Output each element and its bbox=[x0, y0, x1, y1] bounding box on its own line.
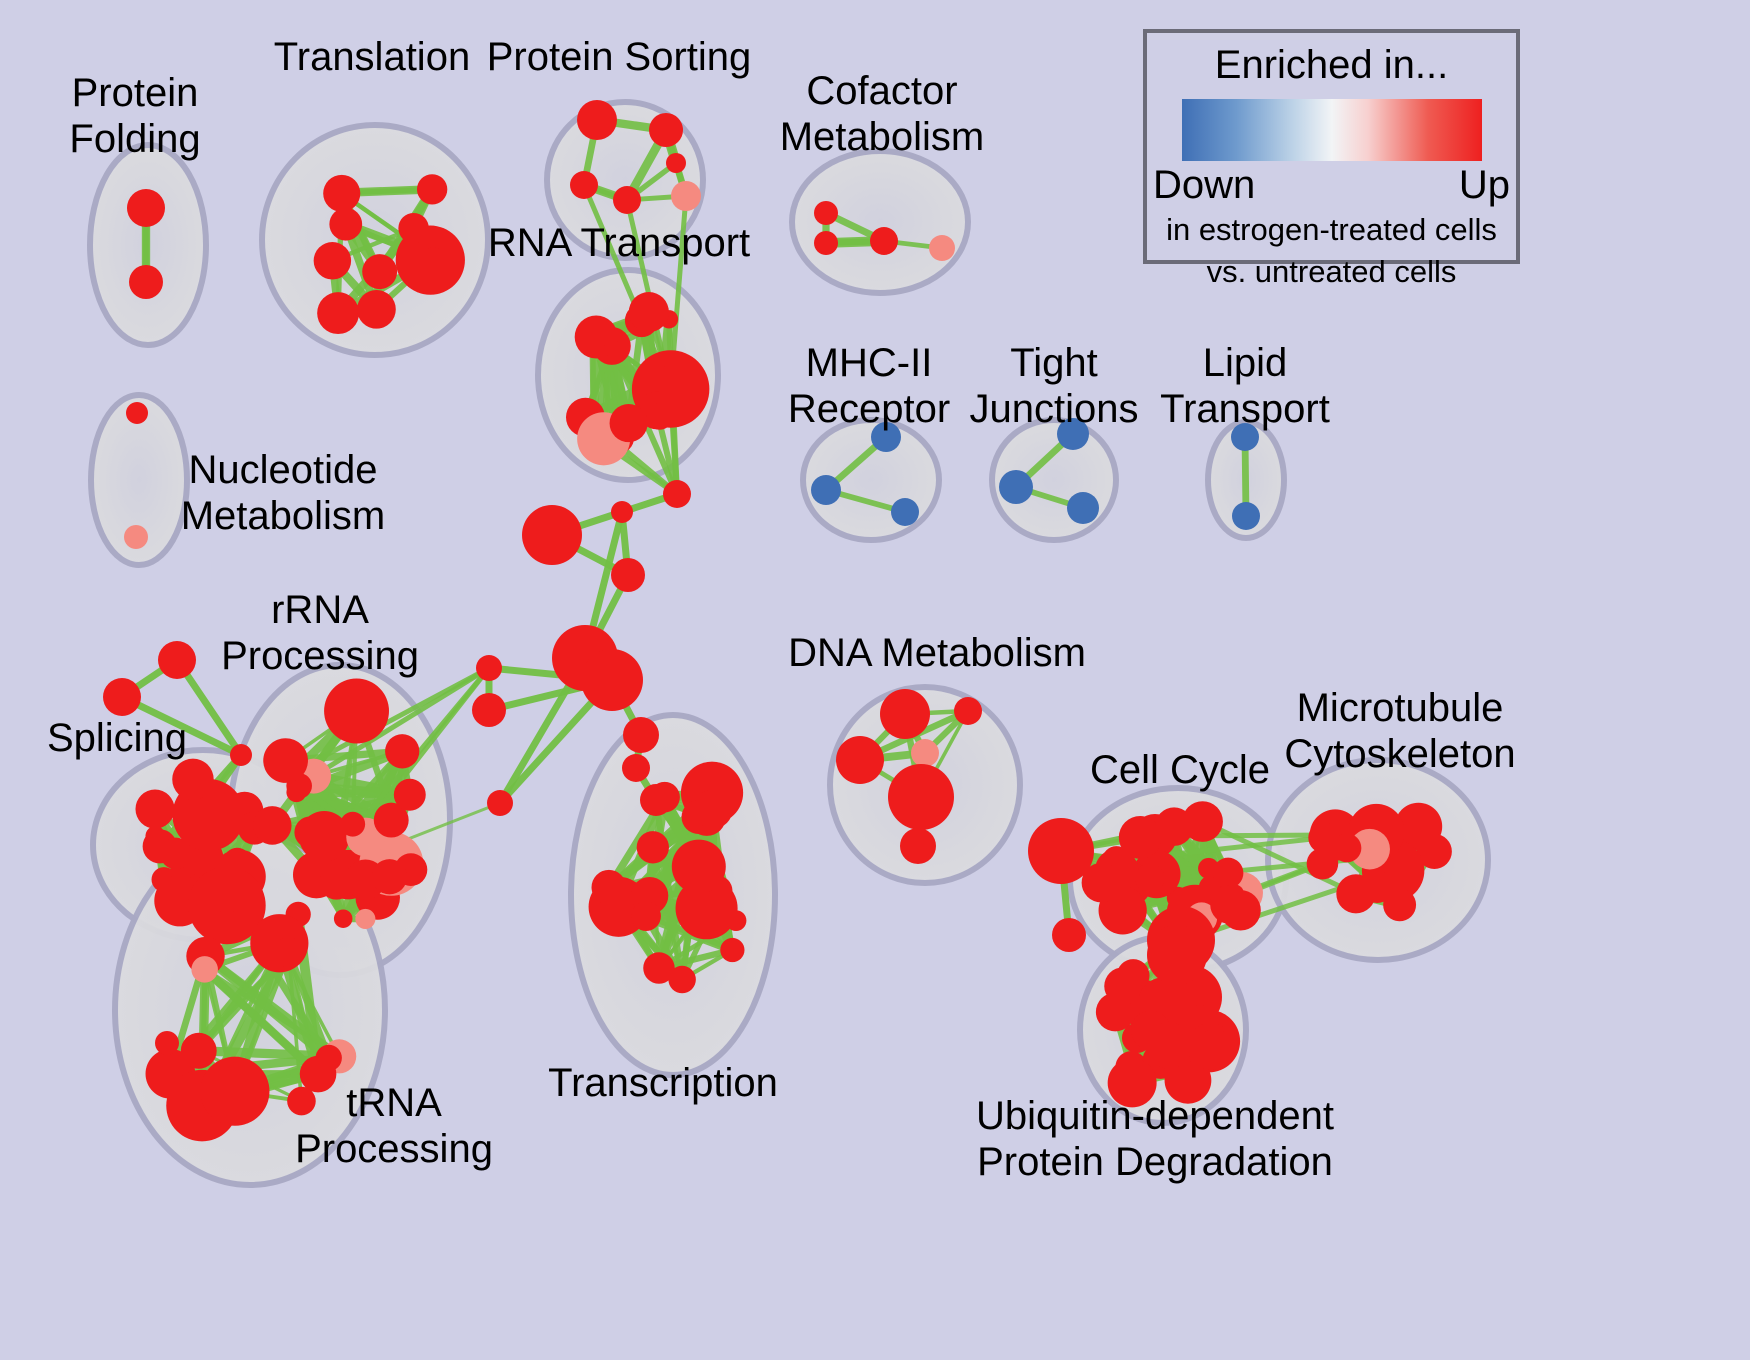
network-node-nucleotide-metabolism bbox=[126, 402, 148, 424]
network-node-dna-metabolism bbox=[900, 828, 936, 864]
cluster-label-protein-sorting: Protein Sorting bbox=[487, 35, 752, 79]
network-node-bridge bbox=[611, 501, 633, 523]
network-node-protein-folding bbox=[129, 265, 163, 299]
network-node-bridge bbox=[230, 744, 252, 766]
network-node-rrna-processing bbox=[372, 859, 407, 894]
network-node-bridge bbox=[155, 1031, 179, 1055]
network-node-protein-sorting bbox=[671, 181, 701, 211]
network-node-rrna-processing bbox=[340, 812, 365, 837]
network-node-bridge bbox=[611, 558, 645, 592]
network-node-cofactor-metabolism bbox=[814, 201, 838, 225]
cluster-label-translation: Translation bbox=[274, 35, 470, 79]
cluster-label-cell-cycle: Cell Cycle bbox=[1090, 748, 1270, 792]
network-node-cofactor-metabolism bbox=[929, 235, 955, 261]
network-node-transcription bbox=[637, 831, 669, 863]
network-node-dna-metabolism bbox=[888, 764, 954, 830]
legend-title: Enriched in... bbox=[1147, 43, 1516, 87]
network-node-bridge bbox=[622, 754, 650, 782]
legend-down-label: Down bbox=[1153, 163, 1255, 207]
network-node-bridge bbox=[1052, 918, 1086, 952]
network-node-bridge bbox=[581, 649, 643, 711]
network-node-protein-folding bbox=[127, 189, 165, 227]
network-node-microtubule-cytoskeleton bbox=[1308, 822, 1339, 853]
network-node-nucleotide-metabolism bbox=[124, 525, 148, 549]
network-node-translation bbox=[362, 254, 397, 289]
network-node-trna-processing bbox=[191, 956, 218, 983]
network-node-lipid-transport bbox=[1232, 502, 1260, 530]
cluster-label-rrna-processing: rRNAProcessing bbox=[221, 588, 419, 678]
network-node-bridge bbox=[623, 717, 659, 753]
network-node-bridge bbox=[522, 505, 582, 565]
network-node-cell-cycle bbox=[1155, 807, 1194, 846]
network-node-tight-junctions bbox=[1067, 492, 1099, 524]
legend-gradient-bar bbox=[1182, 99, 1482, 161]
network-node-transcription bbox=[672, 840, 726, 894]
network-node-protein-sorting bbox=[666, 153, 686, 173]
network-node-cell-cycle bbox=[1135, 863, 1164, 892]
network-node-mhc-ii-receptor bbox=[891, 498, 919, 526]
legend-subtitle-line2: vs. untreated cells bbox=[1147, 253, 1516, 291]
network-node-bridge bbox=[640, 784, 672, 816]
network-node-ubiquitin-protein-degradation bbox=[1146, 1022, 1192, 1068]
cluster-label-nucleotide-metabolism: NucleotideMetabolism bbox=[181, 448, 386, 538]
network-node-protein-sorting bbox=[570, 171, 598, 199]
network-node-cell-cycle bbox=[1198, 858, 1219, 879]
network-node-tight-junctions bbox=[999, 470, 1033, 504]
network-node-bridge bbox=[476, 655, 502, 681]
network-node-rna-transport bbox=[646, 366, 672, 392]
network-node-trna-processing bbox=[200, 1057, 269, 1126]
network-node-translation bbox=[417, 174, 447, 204]
cluster-label-mhc-ii-receptor: MHC-IIReceptor bbox=[788, 341, 950, 431]
cluster-label-dna-metabolism: DNA Metabolism bbox=[788, 631, 1086, 675]
network-node-rrna-processing bbox=[385, 734, 419, 768]
network-node-rrna-processing bbox=[253, 806, 292, 845]
legend: Enriched in... Down Up in estrogen-treat… bbox=[1143, 29, 1520, 264]
cluster-label-ubiquitin-protein-degradation: Ubiquitin-dependentProtein Degradation bbox=[976, 1094, 1334, 1184]
network-node-trna-processing bbox=[181, 1033, 217, 1069]
network-node-rna-transport bbox=[610, 404, 648, 442]
network-node-protein-sorting bbox=[613, 186, 641, 214]
network-node-mhc-ii-receptor bbox=[811, 475, 841, 505]
network-node-rrna-processing bbox=[334, 909, 353, 928]
network-node-cofactor-metabolism bbox=[870, 227, 898, 255]
network-node-protein-sorting bbox=[577, 100, 617, 140]
legend-up-label: Up bbox=[1459, 163, 1510, 207]
cluster-label-microtubule-cytoskeleton: MicrotubuleCytoskeleton bbox=[1284, 686, 1515, 776]
network-node-transcription bbox=[592, 870, 627, 905]
network-node-rrna-processing bbox=[324, 679, 389, 744]
network-node-rna-transport bbox=[646, 403, 673, 430]
network-node-bridge bbox=[1147, 925, 1207, 985]
cluster-label-protein-folding: ProteinFolding bbox=[69, 71, 200, 161]
cluster-label-splicing: Splicing bbox=[47, 716, 187, 760]
network-node-rrna-processing bbox=[320, 866, 354, 900]
network-node-ubiquitin-protein-degradation bbox=[1191, 1005, 1210, 1024]
network-node-transcription bbox=[631, 901, 661, 931]
network-node-translation bbox=[330, 183, 349, 202]
network-node-bridge bbox=[103, 678, 141, 716]
network-node-transcription bbox=[643, 952, 674, 983]
network-node-ubiquitin-protein-degradation bbox=[1104, 967, 1142, 1005]
network-node-splicing bbox=[172, 759, 213, 800]
network-node-translation bbox=[398, 213, 429, 244]
network-node-bridge bbox=[487, 790, 513, 816]
network-node-dna-metabolism bbox=[954, 697, 982, 725]
network-node-bridge bbox=[472, 693, 506, 727]
cluster-label-tight-junctions: TightJunctions bbox=[970, 341, 1139, 431]
network-node-microtubule-cytoskeleton bbox=[1361, 871, 1393, 903]
cluster-label-rna-transport: RNA Transport bbox=[488, 221, 750, 265]
network-node-dna-metabolism bbox=[911, 739, 939, 767]
network-node-protein-sorting bbox=[649, 113, 683, 147]
network-node-splicing bbox=[135, 789, 174, 828]
cluster-label-lipid-transport: LipidTransport bbox=[1160, 341, 1330, 431]
network-node-translation bbox=[329, 208, 362, 241]
network-node-rna-transport bbox=[599, 326, 619, 346]
network-node-translation bbox=[357, 290, 396, 329]
network-node-splicing bbox=[145, 826, 165, 846]
network-node-transcription bbox=[720, 938, 744, 962]
network-node-ubiquitin-protein-degradation bbox=[1195, 1029, 1235, 1069]
network-node-cell-cycle bbox=[1223, 884, 1245, 906]
network-node-rrna-processing bbox=[263, 738, 308, 783]
network-node-translation bbox=[423, 247, 444, 268]
cluster-label-cofactor-metabolism: CofactorMetabolism bbox=[780, 69, 985, 159]
network-node-transcription bbox=[694, 789, 733, 828]
network-node-cofactor-metabolism bbox=[814, 231, 838, 255]
network-node-translation bbox=[317, 292, 359, 334]
network-node-translation bbox=[314, 242, 351, 279]
network-node-trna-processing bbox=[316, 1045, 342, 1071]
network-node-bridge bbox=[158, 641, 196, 679]
legend-subtitle-line1: in estrogen-treated cells bbox=[1147, 211, 1516, 249]
network-node-rrna-processing bbox=[294, 816, 326, 848]
network-node-bridge bbox=[1028, 818, 1094, 884]
cluster-label-transcription: Transcription bbox=[548, 1061, 778, 1105]
network-figure: ProteinFoldingTranslationProtein Sorting… bbox=[0, 0, 1750, 1360]
network-node-rna-transport bbox=[629, 292, 669, 332]
network-node-dna-metabolism bbox=[836, 736, 884, 784]
network-node-rrna-processing bbox=[394, 779, 426, 811]
network-node-trna-processing bbox=[210, 880, 243, 913]
network-node-rrna-processing bbox=[355, 909, 375, 929]
network-node-trna-processing bbox=[274, 937, 304, 967]
network-node-bridge bbox=[663, 480, 691, 508]
network-node-dna-metabolism bbox=[880, 689, 930, 739]
